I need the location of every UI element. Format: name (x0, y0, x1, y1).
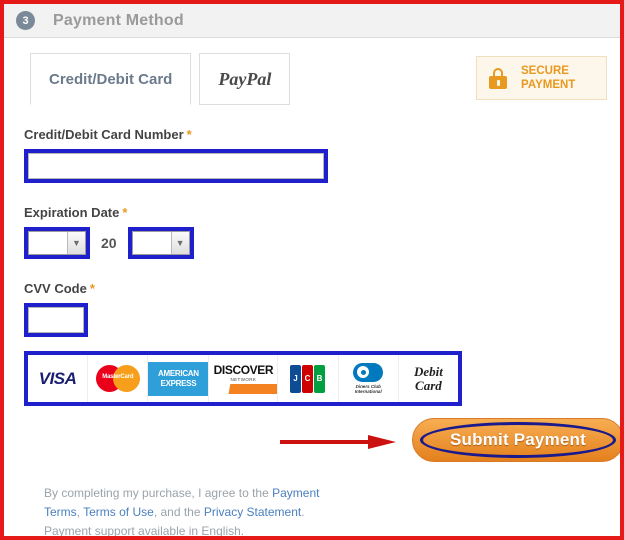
visa-logo-text: VISA (39, 369, 77, 389)
card-number-highlight (24, 149, 328, 183)
submit-payment-button[interactable]: Submit Payment (412, 418, 624, 462)
secure-line-2: PAYMENT (521, 78, 575, 92)
expiration-year-highlight: ▼ (128, 227, 194, 259)
chevron-down-icon[interactable]: ▼ (171, 232, 189, 254)
card-number-label-text: Credit/Debit Card Number (24, 127, 184, 142)
diners-club-icon: Diners Club International (353, 363, 383, 395)
accepted-cards-highlight: VISA MasterCard AMERICAN EXPRESS DISCOVE… (24, 351, 462, 406)
debit-card-icon: Debit Card (414, 365, 443, 393)
legal-footer: By completing my purchase, I agree to th… (44, 484, 344, 540)
step-number-badge: 3 (16, 11, 35, 30)
card-number-label: Credit/Debit Card Number* (24, 127, 620, 142)
lock-icon (489, 68, 507, 89)
amex-line-1: AMERICAN (158, 369, 199, 379)
chevron-down-icon[interactable]: ▼ (67, 232, 85, 254)
expiration-row: ▼ 20 ▼ (24, 227, 620, 259)
panel-header: 3 Payment Method (4, 4, 620, 38)
diners-line-2: International (353, 389, 383, 395)
card-logo-jcb: J C B (278, 355, 338, 402)
page-title: Payment Method (53, 12, 184, 30)
pointer-arrow-icon (280, 434, 396, 450)
mastercard-logo-text: MasterCard (96, 374, 140, 380)
tab-credit-debit-card[interactable]: Credit/Debit Card (30, 53, 191, 105)
discover-swoosh (209, 384, 277, 394)
cvv-code-label: CVV Code* (24, 281, 620, 296)
jcb-icon: J C B (290, 365, 326, 393)
card-number-required-marker: * (187, 127, 192, 142)
payment-method-panel: 3 Payment Method Credit/Debit Card PayPa… (0, 0, 624, 540)
debit-line-2: Card (414, 379, 443, 393)
secure-payment-text: SECURE PAYMENT (521, 64, 575, 92)
card-number-input[interactable] (28, 153, 324, 179)
card-logo-diners-club: Diners Club International (339, 355, 399, 402)
mastercard-icon: MasterCard (96, 365, 140, 392)
expiration-month-highlight: ▼ (24, 227, 90, 259)
secure-payment-badge: SECURE PAYMENT (476, 56, 607, 100)
privacy-statement-link[interactable]: Privacy Statement (204, 505, 301, 519)
expiration-date-label-text: Expiration Date (24, 205, 119, 220)
expiration-year-value (133, 232, 171, 254)
cvv-input[interactable] (28, 307, 84, 333)
card-logo-visa: VISA (28, 355, 88, 402)
payment-support-line: Payment support available in English. (44, 522, 344, 540)
expiration-month-select[interactable]: ▼ (28, 231, 86, 255)
expiration-date-label: Expiration Date* (24, 205, 620, 220)
paypal-logo: PayPal (218, 69, 271, 90)
cvv-required-marker: * (90, 281, 95, 296)
expiration-required-marker: * (122, 205, 127, 220)
amex-icon: AMERICAN EXPRESS (148, 362, 208, 396)
cvv-highlight (24, 303, 88, 337)
terms-of-use-link[interactable]: Terms of Use (83, 505, 154, 519)
expiration-month-value (29, 232, 67, 254)
year-prefix-label: 20 (101, 235, 117, 251)
footer-text-3: , and the (154, 505, 204, 519)
submit-payment-label: Submit Payment (450, 430, 586, 450)
submit-row: Submit Payment (24, 414, 620, 474)
discover-logo-text: DISCOVER (209, 363, 277, 377)
amex-line-2: EXPRESS (161, 379, 197, 389)
cvv-code-label-text: CVV Code (24, 281, 87, 296)
footer-text-1: By completing my purchase, I agree to th… (44, 486, 272, 500)
discover-sublabel: NETWORK (209, 377, 277, 382)
tab-paypal[interactable]: PayPal (199, 53, 290, 105)
expiration-year-select[interactable]: ▼ (132, 231, 190, 255)
card-logo-mastercard: MasterCard (88, 355, 148, 402)
secure-line-1: SECURE (521, 64, 575, 78)
payment-form: Credit/Debit Card Number* Expiration Dat… (4, 105, 620, 540)
footer-text-4: . (301, 505, 304, 519)
card-logo-amex: AMERICAN EXPRESS (148, 355, 209, 402)
discover-icon: DISCOVER NETWORK (209, 363, 277, 394)
debit-line-1: Debit (414, 365, 443, 379)
card-logo-debit-card: Debit Card (399, 355, 458, 402)
submit-payment-area: Submit Payment (412, 416, 624, 466)
tab-credit-debit-card-label: Credit/Debit Card (49, 71, 172, 88)
card-logo-discover: DISCOVER NETWORK (209, 355, 278, 402)
